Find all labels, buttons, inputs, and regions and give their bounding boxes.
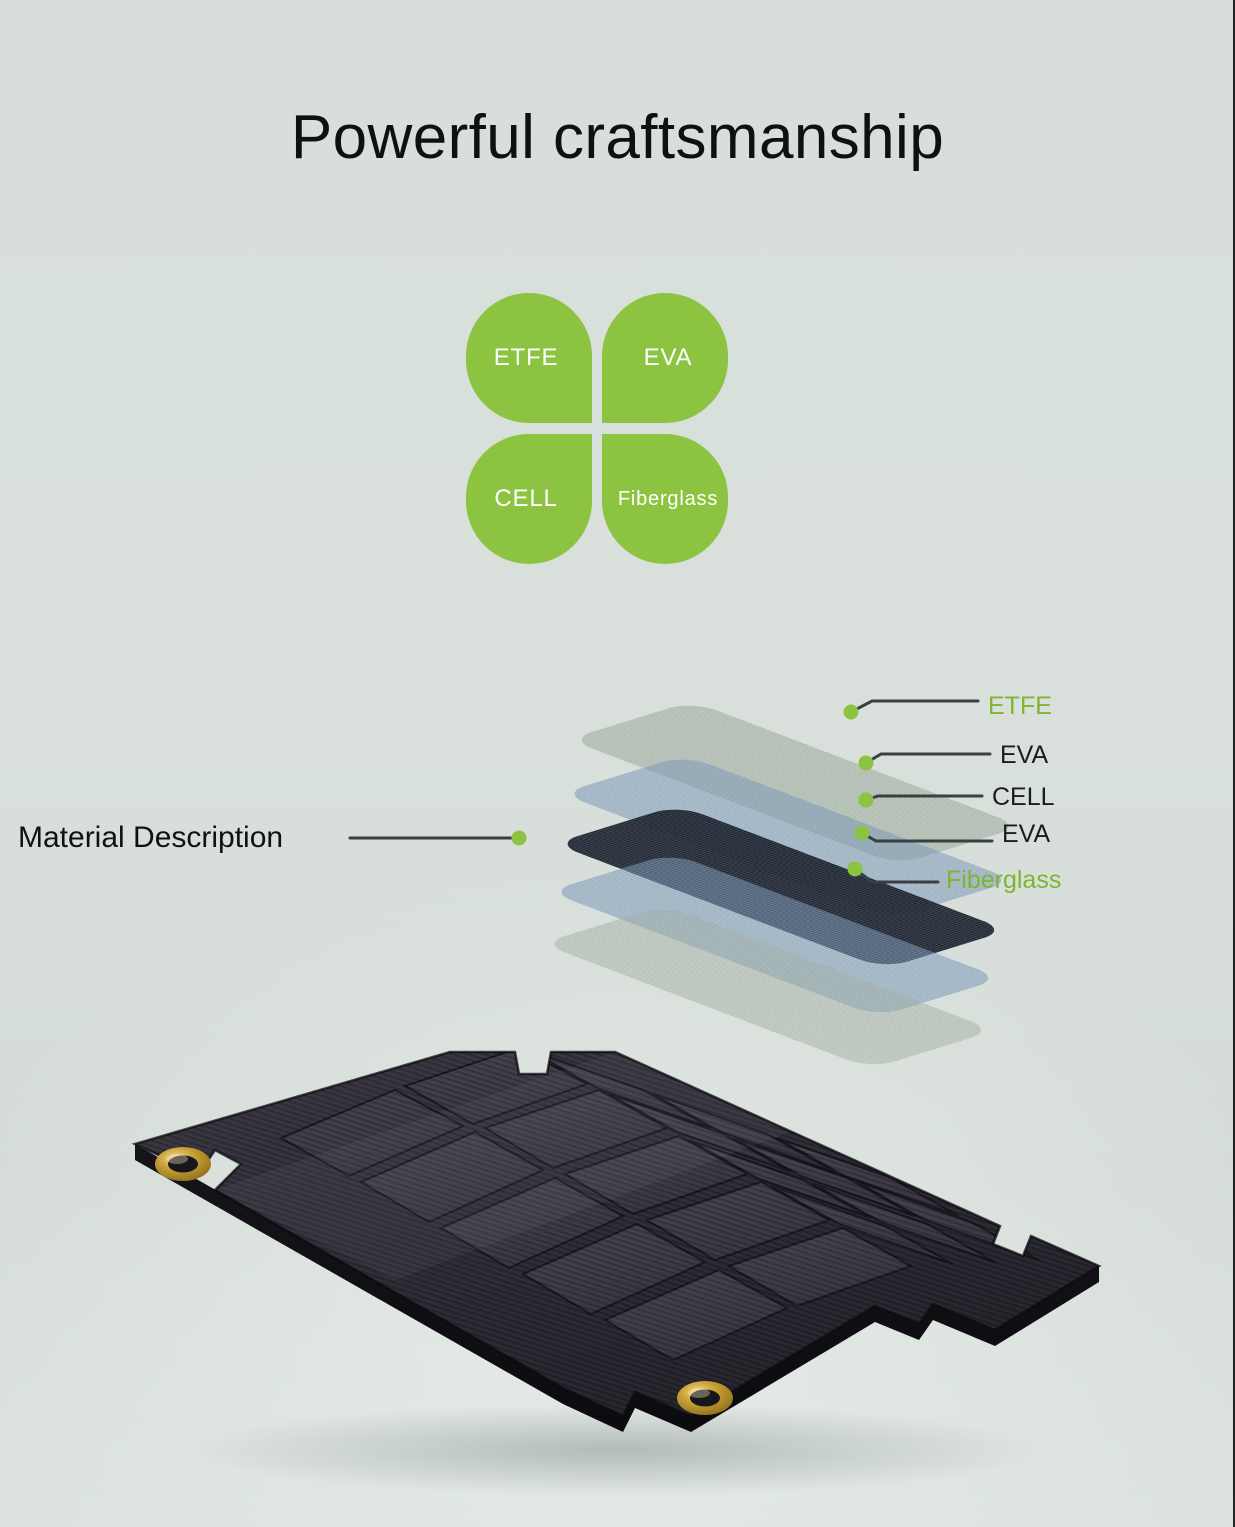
callout-label-material-description: Material Description bbox=[18, 821, 283, 855]
solar-panel-render bbox=[95, 1030, 1135, 1500]
callout-label-fiberglass: Fiberglass bbox=[946, 866, 1061, 895]
clover-petal-label: ETFE bbox=[494, 344, 559, 372]
callout-label-etfe: ETFE bbox=[988, 692, 1052, 721]
clover-petal-label: EVA bbox=[644, 344, 693, 372]
callout-label-cell: CELL bbox=[992, 783, 1055, 812]
page-title: Powerful craftsmanship bbox=[0, 102, 1235, 173]
solar-panel-product-image bbox=[95, 1030, 1135, 1500]
clover-petal-cell[interactable]: CELL bbox=[466, 434, 592, 564]
grommet-top-left bbox=[155, 1147, 211, 1181]
clover-petal-eva[interactable]: EVA bbox=[602, 293, 728, 423]
callout-label-eva-top: EVA bbox=[1000, 741, 1048, 770]
exploded-layer-stack bbox=[500, 655, 900, 995]
material-clover: ETFE EVA CELL Fiberglass bbox=[466, 293, 732, 565]
infographic-page: Powerful craftsmanship ETFE EVA CELL Fib… bbox=[0, 0, 1235, 1527]
clover-petal-etfe[interactable]: ETFE bbox=[466, 293, 592, 423]
callout-label-eva-bottom: EVA bbox=[1002, 820, 1050, 849]
clover-petal-label: CELL bbox=[494, 485, 557, 513]
clover-petal-fiberglass[interactable]: Fiberglass bbox=[602, 434, 728, 564]
grommet-bottom-right bbox=[677, 1381, 733, 1415]
clover-petal-label: Fiberglass bbox=[618, 488, 718, 511]
